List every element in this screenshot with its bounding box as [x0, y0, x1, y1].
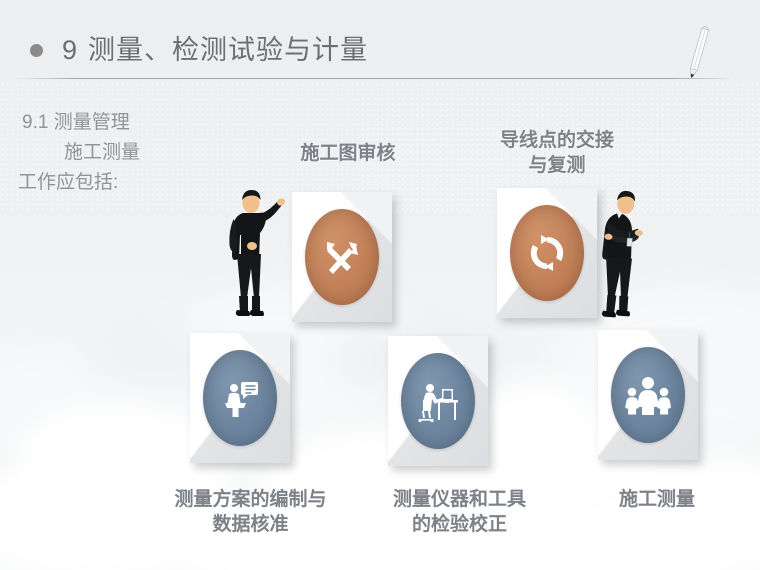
- caption-instrument-calibration-line-2: 的检验校正: [352, 512, 567, 537]
- header-divider: [18, 78, 730, 79]
- caption-survey-plan-preparation: 测量方案的编制与 数据核准: [128, 487, 373, 537]
- person-at-desk-icon: [414, 378, 462, 424]
- caption-survey-plan-preparation-line-2: 数据核准: [128, 512, 373, 537]
- card-survey-plan-preparation[interactable]: [190, 333, 290, 463]
- caption-control-point-handover-line-1: 导线点的交接: [462, 128, 652, 153]
- left-text-line-1: 9.1 测量管理: [18, 108, 228, 138]
- caption-construction-survey: 施工测量: [572, 487, 742, 512]
- page-title-number: 9: [62, 35, 78, 65]
- card-icon-badge: [203, 350, 277, 446]
- caption-survey-plan-preparation-line-1: 测量方案的编制与: [128, 487, 373, 512]
- podium-speaker-icon: [217, 375, 263, 421]
- card-icon-badge: [510, 205, 584, 301]
- left-text-line-2: 施工测量: [18, 138, 228, 168]
- caption-instrument-calibration: 测量仪器和工具 的检验校正: [352, 487, 567, 537]
- businessman-arms-crossed-photo: [592, 188, 658, 328]
- page-title: 9测量、检测试验与计量: [62, 28, 368, 67]
- caption-instrument-calibration-line-1: 测量仪器和工具: [352, 487, 567, 512]
- bullet-dot-icon: [30, 44, 43, 57]
- card-construction-drawing-review[interactable]: [292, 192, 392, 322]
- caption-control-point-handover-line-2: 与复测: [462, 153, 652, 178]
- refresh-cycle-icon: [525, 231, 569, 275]
- pencil-icon: [680, 22, 716, 84]
- card-icon-badge: [401, 353, 475, 449]
- card-icon-badge: [611, 347, 685, 443]
- slide-canvas: 9测量、检测试验与计量 9.1 测量管理 施工测量 工作应包括: 施工图审核 导…: [0, 0, 760, 570]
- businessman-pointing-photo: [220, 186, 290, 326]
- card-construction-survey[interactable]: [598, 330, 698, 460]
- caption-control-point-handover: 导线点的交接 与复测: [462, 128, 652, 178]
- slide-header: 9测量、检测试验与计量: [0, 0, 760, 86]
- crossing-arrows-icon: [319, 234, 365, 280]
- caption-construction-drawing-review: 施工图审核: [258, 141, 438, 166]
- card-icon-badge: [305, 209, 379, 305]
- card-instrument-calibration[interactable]: [388, 336, 488, 466]
- left-text-line-3: 工作应包括:: [18, 168, 228, 198]
- group-of-people-icon: [624, 374, 672, 416]
- left-text-block: 9.1 测量管理 施工测量 工作应包括:: [18, 108, 228, 198]
- card-control-point-handover[interactable]: [497, 188, 597, 318]
- page-title-text: 测量、检测试验与计量: [88, 35, 368, 65]
